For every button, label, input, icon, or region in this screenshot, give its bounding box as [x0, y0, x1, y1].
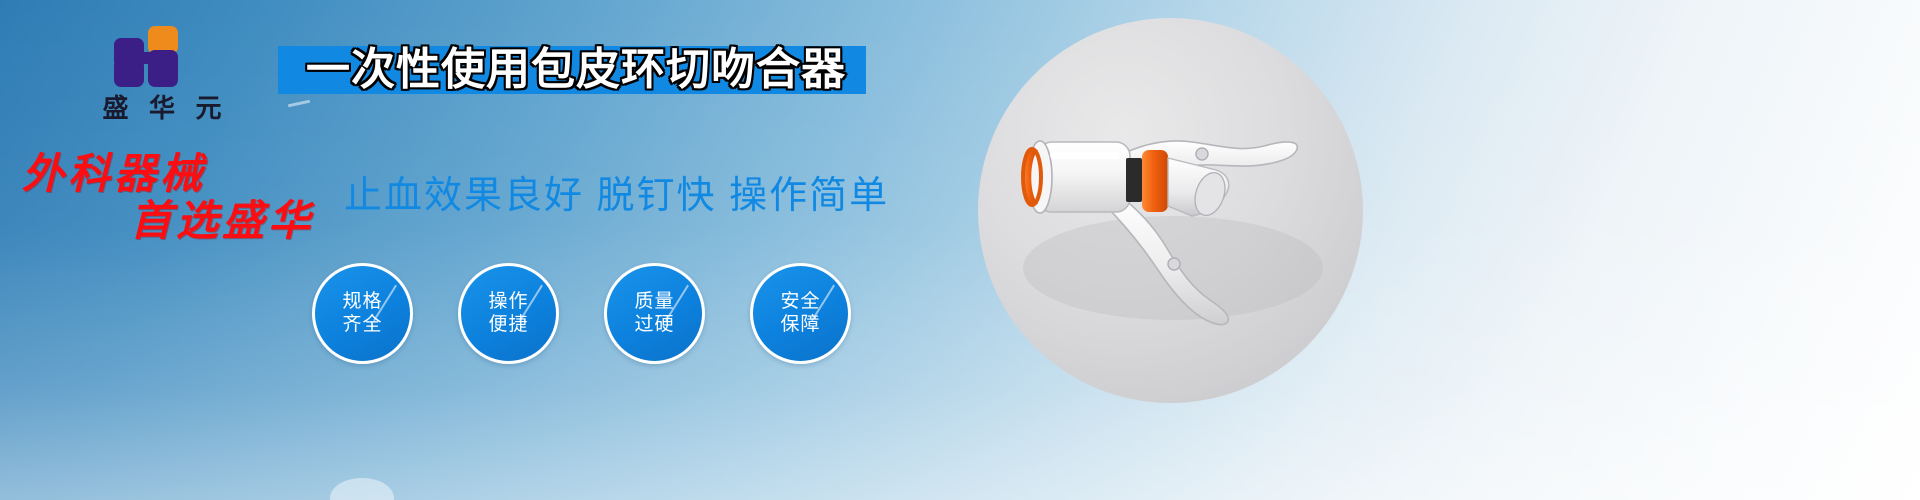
- page-title: 一次性使用包皮环切吻合器: [286, 41, 866, 99]
- stapler-highlight: [1050, 152, 1120, 159]
- feature-badges: 规格 齐全 操作 便捷 质量 过硬 安全 保障: [312, 263, 851, 364]
- badge-specs-label: 规格 齐全: [342, 291, 382, 336]
- logo-mark-icon: [114, 26, 210, 88]
- badge-specs-line1: 规格: [342, 291, 382, 312]
- badge-quality-line1: 质量: [634, 291, 674, 312]
- logo-block-purple-right: [148, 50, 178, 87]
- decorative-bubble: [330, 478, 394, 500]
- stapler-upper-pivot: [1196, 148, 1208, 160]
- calligraphy-line-1: 外科器械: [22, 152, 314, 199]
- badge-safety-label: 安全 保障: [780, 291, 820, 336]
- product-photo[interactable]: [978, 18, 1363, 403]
- badge-quality-label: 质量 过硬: [634, 291, 674, 336]
- calligraphy-slogan: 外科器械 首选盛华: [22, 152, 314, 246]
- stapler-dark-band: [1126, 158, 1142, 202]
- product-banner: 盛 华 元 外科器械 首选盛华 一次性使用包皮环切吻合器 止血效果良好 脱钉快 …: [0, 0, 1920, 500]
- badge-quality[interactable]: 质量 过硬: [604, 263, 705, 364]
- stapler-illustration: [978, 18, 1363, 403]
- logo-wordmark: 盛 华 元: [62, 96, 262, 122]
- badge-quality-line2: 过硬: [634, 314, 674, 335]
- subtitle: 止血效果良好 脱钉快 操作简单: [344, 164, 889, 219]
- stapler-lower-pivot: [1168, 258, 1180, 270]
- stapler-orange-collar: [1142, 150, 1168, 212]
- company-logo[interactable]: 盛 华 元: [62, 26, 262, 131]
- badge-safety-line1: 安全: [780, 291, 820, 312]
- badge-easy-label: 操作 便捷: [488, 291, 528, 336]
- badge-easy-line2: 便捷: [488, 314, 528, 335]
- badge-easy[interactable]: 操作 便捷: [458, 263, 559, 364]
- badge-easy-line1: 操作: [488, 291, 528, 312]
- badge-safety[interactable]: 安全 保障: [750, 263, 851, 364]
- badge-specs-line2: 齐全: [342, 314, 382, 335]
- badge-safety-line2: 保障: [780, 314, 820, 335]
- calligraphy-line-2: 首选盛华: [130, 199, 314, 246]
- decorative-glint: [288, 100, 310, 108]
- badge-specs[interactable]: 规格 齐全: [312, 263, 413, 364]
